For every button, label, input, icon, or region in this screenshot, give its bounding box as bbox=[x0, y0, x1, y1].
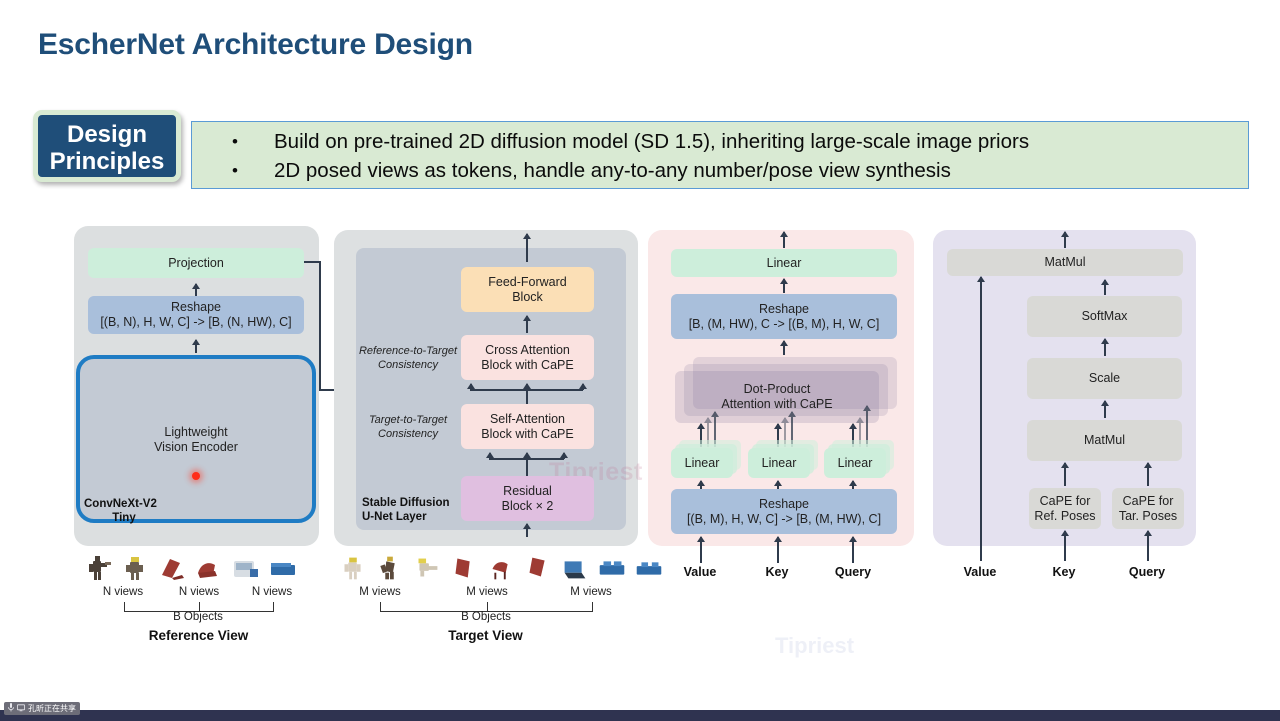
encoder-backbone-label: ConvNeXt-V2 Tiny bbox=[84, 497, 184, 525]
dot-product-line1: Dot-Product bbox=[744, 382, 811, 397]
attn-reshape-top-block: Reshape [B, (M, HW), C -> [(B, M), H, W,… bbox=[671, 294, 897, 339]
unet-footer-label: Stable Diffusion U-Net Layer bbox=[362, 496, 472, 524]
arrow-attn-input-1 bbox=[777, 537, 779, 549]
matmul-bottom-block: MatMul bbox=[1027, 420, 1182, 461]
arrow-scale-to-softmax bbox=[1104, 339, 1106, 356]
self-attention-line1: Self-Attention bbox=[490, 412, 565, 427]
reshape-title: Reshape bbox=[171, 300, 221, 315]
attn-io-label-query: Query bbox=[818, 565, 888, 579]
reference-views-label-2: N views bbox=[237, 586, 307, 598]
softmax-block: SoftMax bbox=[1027, 296, 1182, 337]
cape-io-label-key: Key bbox=[1029, 565, 1099, 579]
target-thumbnails bbox=[336, 553, 669, 583]
cape-io-label-value: Value bbox=[945, 565, 1015, 579]
note-ref-line2: Consistency bbox=[358, 358, 458, 372]
attn-io-tick-1 bbox=[777, 549, 779, 563]
screen-share-icon[interactable] bbox=[17, 704, 25, 714]
target-views-label-0: M views bbox=[345, 586, 415, 598]
list-item: • Build on pre-trained 2D diffusion mode… bbox=[232, 127, 1240, 156]
linear-block-query: Linear bbox=[824, 448, 886, 478]
arrow-cape-input-query bbox=[1147, 531, 1149, 547]
attn-io-tick-0 bbox=[700, 549, 702, 563]
cape-tar-line2: Tar. Poses bbox=[1119, 509, 1177, 524]
projection-connector-v bbox=[319, 261, 321, 390]
bullet-text: 2D posed views as tokens, handle any-to-… bbox=[274, 156, 1240, 185]
scale-block: Scale bbox=[1027, 358, 1182, 399]
arrow-dotprod-to-reshape bbox=[783, 341, 785, 355]
thumbnail-chair-b bbox=[191, 553, 227, 583]
mic-icon[interactable] bbox=[8, 703, 14, 714]
note-tar-line1: Target-to-Target bbox=[358, 413, 458, 427]
reference-views-label-1: N views bbox=[164, 586, 234, 598]
self-branch-drop bbox=[526, 458, 528, 478]
arrow-cape-output bbox=[1064, 232, 1066, 248]
linear-label: Linear bbox=[762, 456, 797, 471]
linear-block-key: Linear bbox=[748, 448, 810, 478]
design-tag-line1: Design bbox=[38, 121, 176, 148]
feed-forward-line2: Block bbox=[512, 290, 543, 305]
projection-block: Projection bbox=[88, 248, 304, 278]
note-tar-line2: Consistency bbox=[358, 427, 458, 441]
thumbnail-appliance-d bbox=[595, 553, 631, 583]
target-to-target-note: Target-to-Target Consistency bbox=[358, 413, 458, 441]
linear-label: Linear bbox=[685, 456, 720, 471]
design-principles-callout: • Build on pre-trained 2D diffusion mode… bbox=[191, 121, 1249, 189]
linear-label: Linear bbox=[838, 456, 873, 471]
note-ref-line1: Reference-to-Target bbox=[358, 344, 458, 358]
linear-block-value: Linear bbox=[671, 448, 733, 478]
backbone-line2: Tiny bbox=[84, 511, 164, 525]
thumbnail-appliance-a bbox=[228, 553, 264, 583]
target-bracket-label: B Objects bbox=[436, 611, 536, 623]
cross-attention-line1: Cross Attention bbox=[485, 343, 570, 358]
taskbar bbox=[0, 710, 1280, 721]
encoder-label-line2: Vision Encoder bbox=[80, 440, 312, 455]
reference-view-caption: Reference View bbox=[126, 628, 271, 643]
attn-linear-top-label: Linear bbox=[767, 256, 802, 271]
attn-io-label-value: Value bbox=[665, 565, 735, 579]
thumbnail-robot-a bbox=[80, 553, 116, 583]
thumbnail-robot-e bbox=[410, 553, 446, 583]
attn-reshape-bottom-formula: [(B, M), H, W, C] -> [B, (M, HW), C] bbox=[687, 512, 881, 527]
design-principles-list: • Build on pre-trained 2D diffusion mode… bbox=[232, 127, 1240, 185]
list-item: • 2D posed views as tokens, handle any-t… bbox=[232, 156, 1240, 185]
attn-reshape-bottom-block: Reshape [(B, M), H, W, C] -> [B, (M, HW)… bbox=[671, 489, 897, 534]
reference-views-label-0: N views bbox=[88, 586, 158, 598]
thumbnail-chair-e bbox=[521, 553, 557, 583]
cape-io-tick-1 bbox=[1064, 547, 1066, 561]
design-principles-tag: Design Principles bbox=[33, 110, 181, 182]
dot-product-attention-block: Dot-Product Attention with CaPE bbox=[675, 371, 879, 423]
page-title: EscherNet Architecture Design bbox=[38, 28, 473, 62]
reshape-formula: [(B, N), H, W, C] -> [B, (N, HW), C] bbox=[100, 315, 291, 330]
residual-block: Residual Block × 2 bbox=[461, 476, 594, 521]
arrow-attn-input-2 bbox=[852, 537, 854, 549]
softmax-label: SoftMax bbox=[1082, 309, 1128, 324]
cape-tar-line1: CaPE for bbox=[1123, 494, 1174, 509]
arrow-encoder-to-reshape bbox=[195, 340, 197, 353]
thumbnail-chair-a bbox=[154, 553, 190, 583]
arrow-unet-input bbox=[526, 524, 528, 537]
matmul-bottom-label: MatMul bbox=[1084, 433, 1125, 448]
attn-reshape-top-title: Reshape bbox=[759, 302, 809, 317]
cape-io-tick-0 bbox=[980, 547, 982, 561]
encoder-reshape-block: Reshape [(B, N), H, W, C] -> [B, (N, HW)… bbox=[88, 296, 304, 334]
projection-label: Projection bbox=[168, 256, 224, 271]
cape-io-label-query: Query bbox=[1112, 565, 1182, 579]
cape-ref-line1: CaPE for bbox=[1040, 494, 1091, 509]
cape-tar-block: CaPE for Tar. Poses bbox=[1112, 488, 1184, 529]
reference-bracket-label: B Objects bbox=[148, 611, 248, 623]
scale-label: Scale bbox=[1089, 371, 1120, 386]
arrow-unet-output bbox=[526, 234, 528, 262]
laser-pointer-dot bbox=[192, 472, 200, 480]
reference-thumbnails bbox=[80, 553, 302, 583]
slide-canvas: EscherNet Architecture Design • Build on… bbox=[0, 0, 1280, 710]
design-tag-line2: Principles bbox=[38, 148, 176, 175]
attn-reshape-bottom-title: Reshape bbox=[759, 497, 809, 512]
cape-ref-line2: Ref. Poses bbox=[1034, 509, 1095, 524]
feed-forward-block: Feed-Forward Block bbox=[461, 267, 594, 312]
arrow-attn-output bbox=[783, 232, 785, 248]
cross-attention-block: Cross Attention Block with CaPE bbox=[461, 335, 594, 380]
thumbnail-robot-b bbox=[117, 553, 153, 583]
arrow-cape-input-key bbox=[1064, 531, 1066, 547]
arrow-matmul-to-scale bbox=[1104, 401, 1106, 418]
cross-attention-line2: Block with CaPE bbox=[481, 358, 573, 373]
reference-to-target-note: Reference-to-Target Consistency bbox=[358, 344, 458, 372]
bullet-glyph: • bbox=[232, 156, 274, 185]
unet-footer-line2: U-Net Layer bbox=[362, 510, 472, 524]
thumbnail-robot-d bbox=[373, 553, 409, 583]
arrow-cape-ref-to-matmul bbox=[1064, 463, 1066, 486]
arrow-attn-input-0 bbox=[700, 537, 702, 549]
thumbnail-appliance-e bbox=[632, 553, 668, 583]
residual-line2: Block × 2 bbox=[502, 499, 554, 514]
bullet-glyph: • bbox=[232, 127, 274, 156]
projection-connector-h1 bbox=[304, 261, 320, 263]
cape-ref-block: CaPE for Ref. Poses bbox=[1029, 488, 1101, 529]
self-attention-block: Self-Attention Block with CaPE bbox=[461, 404, 594, 449]
target-view-caption: Target View bbox=[413, 628, 558, 643]
residual-line1: Residual bbox=[503, 484, 552, 499]
arrow-cross-to-ff bbox=[526, 316, 528, 333]
encoder-label-line1: Lightweight bbox=[80, 425, 312, 440]
thumbnail-appliance-c bbox=[558, 553, 594, 583]
thumbnail-chair-d bbox=[484, 553, 520, 583]
arrow-softmax-to-matmul bbox=[1104, 280, 1106, 295]
unet-footer-line1: Stable Diffusion bbox=[362, 496, 472, 510]
arrow-cape-tar-to-matmul bbox=[1147, 463, 1149, 486]
thumbnail-chair-c bbox=[447, 553, 483, 583]
screen-share-indicator[interactable]: 孔昕正在共享 bbox=[4, 702, 80, 715]
feed-forward-line1: Feed-Forward bbox=[488, 275, 567, 290]
attn-io-label-key: Key bbox=[742, 565, 812, 579]
arrow-cape-value-bypass bbox=[980, 277, 982, 547]
target-views-label-2: M views bbox=[556, 586, 626, 598]
attn-reshape-top-formula: [B, (M, HW), C -> [(B, M), H, W, C] bbox=[689, 317, 880, 332]
attn-linear-top-block: Linear bbox=[671, 249, 897, 277]
arrow-reshape-to-linear-top bbox=[783, 279, 785, 293]
bullet-text: Build on pre-trained 2D diffusion model … bbox=[274, 127, 1240, 156]
matmul-top-label: MatMul bbox=[1045, 255, 1086, 270]
backbone-line1: ConvNeXt-V2 bbox=[84, 497, 184, 511]
dot-product-line2: Attention with CaPE bbox=[721, 397, 832, 412]
self-attention-line2: Block with CaPE bbox=[481, 427, 573, 442]
watermark-secondary: Tipriest bbox=[775, 633, 854, 659]
target-views-label-1: M views bbox=[452, 586, 522, 598]
share-text: 孔昕正在共享 bbox=[28, 703, 76, 714]
attn-io-tick-2 bbox=[852, 549, 854, 563]
cape-io-tick-2 bbox=[1147, 547, 1149, 561]
thumbnail-appliance-b bbox=[265, 553, 301, 583]
matmul-top-block: MatMul bbox=[947, 249, 1183, 276]
thumbnail-robot-c bbox=[336, 553, 372, 583]
